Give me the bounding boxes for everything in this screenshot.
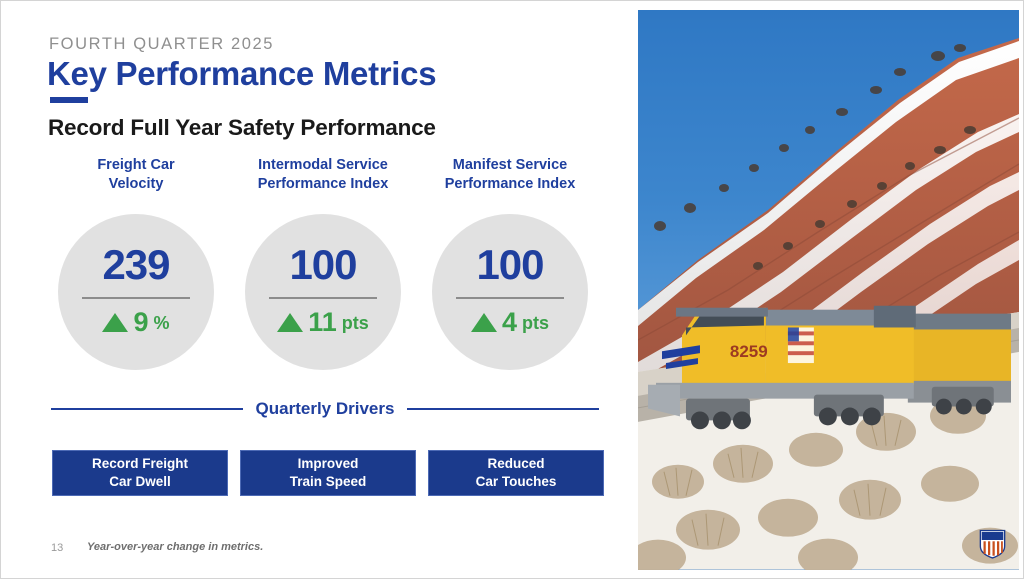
footnote: Year-over-year change in metrics. (87, 541, 263, 553)
metric-delta-unit: pts (342, 314, 369, 332)
driver-box-improved-train-speed[interactable]: Improved Train Speed (240, 450, 416, 496)
triangle-up-icon (471, 313, 497, 332)
metric-intermodal-service-performance-index: Intermodal Service Performance Index 100… (230, 156, 416, 370)
driver-line1: Improved (290, 455, 367, 473)
metric-delta-value: 11 (308, 309, 337, 336)
page-subtitle: Record Full Year Safety Performance (48, 115, 436, 141)
page-number: 13 (51, 542, 63, 554)
metric-bubble: 100 11 pts (245, 214, 401, 370)
title-accent-rule (50, 97, 88, 103)
driver-line2: Car Touches (476, 473, 557, 491)
metric-delta-unit: pts (522, 314, 549, 332)
metric-label-line2: Performance Index (258, 175, 389, 194)
metric-label: Freight Car Velocity (97, 156, 174, 196)
triangle-up-icon (102, 313, 128, 332)
driver-line2: Train Speed (290, 473, 367, 491)
metric-value: 100 (476, 244, 543, 286)
metrics-row: Freight Car Velocity 239 9 % Intermodal … (43, 156, 603, 370)
svg-text:8259: 8259 (730, 343, 768, 362)
driver-line1: Reduced (476, 455, 557, 473)
slide-eyebrow: FOURTH QUARTER 2025 (49, 35, 274, 54)
metric-delta-value: 4 (502, 309, 517, 336)
page-title: Key Performance Metrics (47, 55, 436, 93)
metric-delta-value: 9 (133, 309, 148, 336)
metric-delta-unit: % (154, 314, 170, 332)
metric-label: Manifest Service Performance Index (445, 156, 576, 196)
driver-box-reduced-car-touches[interactable]: Reduced Car Touches (428, 450, 604, 496)
slide-photo: 8259 (638, 10, 1019, 570)
quarterly-drivers-heading: Quarterly Drivers (51, 399, 599, 419)
divider-right (407, 408, 599, 410)
metric-label: Intermodal Service Performance Index (258, 156, 389, 196)
metric-delta: 4 pts (471, 309, 549, 336)
metric-label-line2: Performance Index (445, 175, 576, 194)
bubble-divider (269, 297, 377, 299)
metric-bubble: 100 4 pts (432, 214, 588, 370)
metric-manifest-service-performance-index: Manifest Service Performance Index 100 4… (417, 156, 603, 370)
quarterly-drivers-row: Record Freight Car Dwell Improved Train … (52, 450, 604, 496)
bubble-divider (456, 297, 564, 299)
metric-label-line1: Freight Car (97, 156, 174, 175)
content-pane: FOURTH QUARTER 2025 Key Performance Metr… (1, 1, 638, 578)
divider-left (51, 408, 243, 410)
drivers-title: Quarterly Drivers (256, 399, 395, 419)
metric-freight-car-velocity: Freight Car Velocity 239 9 % (43, 156, 229, 370)
triangle-up-icon (277, 313, 303, 332)
driver-line1: Record Freight (92, 455, 188, 473)
metric-value: 239 (102, 244, 169, 286)
metric-label-line1: Intermodal Service (258, 156, 389, 175)
presentation-slide: FOURTH QUARTER 2025 Key Performance Metr… (0, 0, 1024, 579)
metric-delta: 11 pts (277, 309, 369, 336)
metric-value: 100 (289, 244, 356, 286)
photo-locomotive: 8259 (646, 284, 1012, 452)
metric-label-line1: Manifest Service (445, 156, 576, 175)
metric-bubble: 239 9 % (58, 214, 214, 370)
driver-line2: Car Dwell (92, 473, 188, 491)
driver-box-record-freight-car-dwell[interactable]: Record Freight Car Dwell (52, 450, 228, 496)
union-pacific-shield-logo (979, 529, 1006, 559)
metric-delta: 9 % (102, 309, 169, 336)
bubble-divider (82, 297, 190, 299)
metric-label-line2: Velocity (97, 175, 174, 194)
